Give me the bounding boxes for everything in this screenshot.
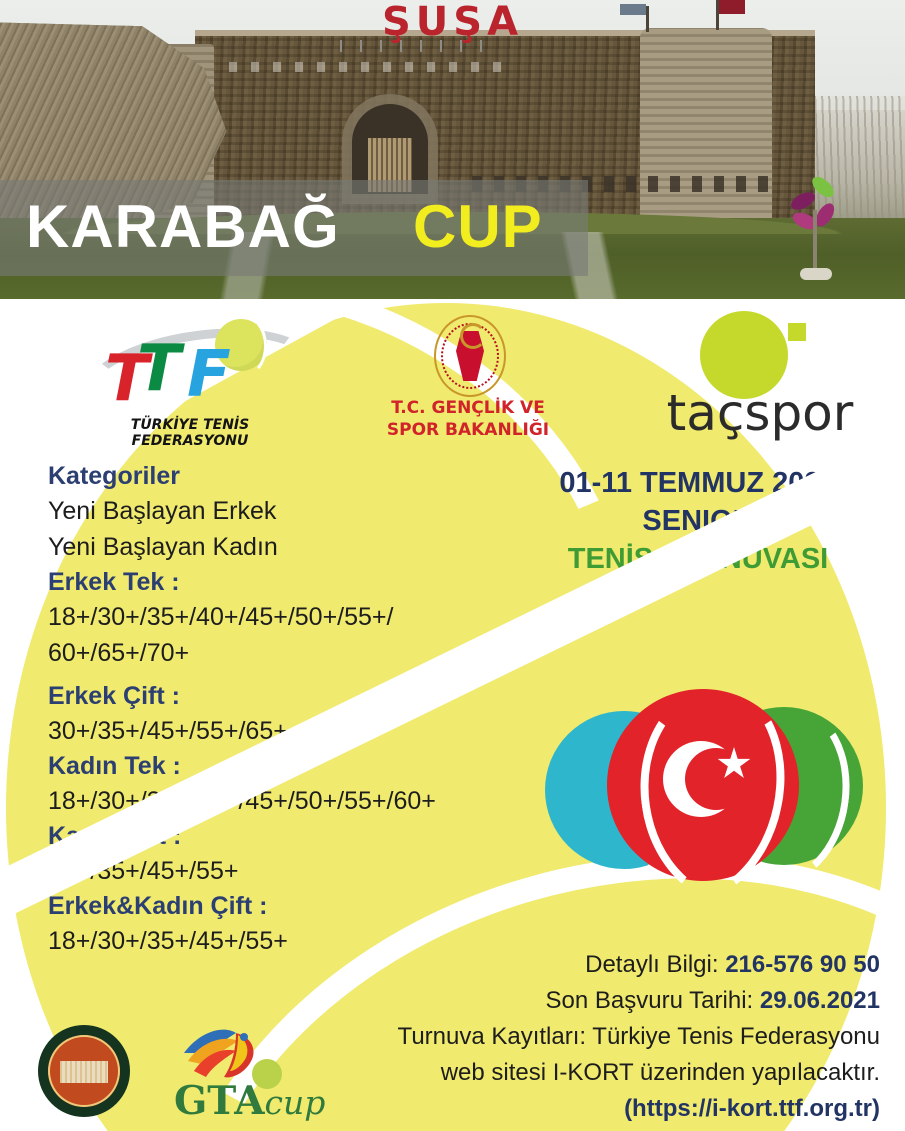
contact-block: Detaylı Bilgi: 216-576 90 50 Son Başvuru… bbox=[300, 947, 880, 1127]
ministry-seal-icon bbox=[434, 315, 506, 397]
contact-deadline-label: Son Başvuru Tarihi: bbox=[546, 987, 754, 1014]
ttf-logo: T T F TÜRKİYE TENİS FEDERASYONU bbox=[75, 317, 305, 447]
wall-merlons bbox=[215, 62, 515, 72]
tacspor-wordmark: taçspor bbox=[640, 385, 880, 441]
tournament-poster: ŞUŞA KARABAĞ CUP T T F TÜRKİYE TENİS FED… bbox=[0, 0, 905, 1131]
contact-phone-value: 216-576 90 50 bbox=[725, 951, 880, 978]
registration-url[interactable]: (https://i-kort.ttf.org.tr) bbox=[300, 1091, 880, 1127]
tennis-ball-red-turkish-flag-icon bbox=[607, 689, 799, 881]
crescent-icon bbox=[663, 741, 739, 817]
pinwheel-sculpture bbox=[786, 170, 846, 280]
poster-title-accent: CUP bbox=[413, 192, 543, 262]
tennis-balls-artwork bbox=[545, 689, 885, 899]
bottom-logo-row: GTAcup bbox=[18, 1015, 348, 1131]
susa-hillside-sign: ŞUŞA bbox=[0, 2, 905, 42]
sponsor-logo-row: T T F TÜRKİYE TENİS FEDERASYONU T.C. GEN… bbox=[0, 309, 905, 449]
ministry-line2: SPOR BAKANLIĞI bbox=[368, 419, 568, 441]
tacspor-logo: taçspor bbox=[640, 311, 880, 451]
pinwheel-pole bbox=[813, 210, 817, 272]
category-label-karisik-cift: Erkek&Kadın Çift : bbox=[48, 889, 518, 923]
ttf-letter-f: F bbox=[187, 343, 231, 407]
ttf-letter-t2: T bbox=[137, 337, 181, 401]
category-label-erkek-tek: Erkek Tek : bbox=[48, 565, 518, 599]
contact-deadline-line: Son Başvuru Tarihi: 29.06.2021 bbox=[300, 983, 880, 1019]
contact-phone-line: Detaylı Bilgi: 216-576 90 50 bbox=[300, 947, 880, 983]
ministry-caption: T.C. GENÇLİK VE SPOR BAKANLIĞI bbox=[368, 397, 568, 441]
categories-heading: Kategoriler bbox=[48, 459, 518, 493]
category-open-2: Yeni Başlayan Kadın bbox=[48, 529, 518, 565]
ministry-line1: T.C. GENÇLİK VE bbox=[368, 397, 568, 419]
category-values-erkek-tek-1: 18+/30+/35+/40+/45+/50+/55+/ bbox=[48, 599, 518, 635]
category-open-1: Yeni Başlayan Erkek bbox=[48, 493, 518, 529]
club-emblem-icon bbox=[48, 1035, 120, 1107]
header-photo: ŞUŞA KARABAĞ CUP bbox=[0, 0, 905, 299]
ttf-caption: TÜRKİYE TENİS FEDERASYONU bbox=[75, 417, 305, 449]
ministry-logo: T.C. GENÇLİK VE SPOR BAKANLIĞI bbox=[368, 315, 568, 455]
tennis-net-icon bbox=[60, 1061, 108, 1083]
pinwheel-base bbox=[800, 268, 832, 280]
contact-phone-label: Detaylı Bilgi: bbox=[585, 951, 718, 978]
categories-block: Kategoriler Yeni Başlayan Erkek Yeni Baş… bbox=[48, 459, 518, 959]
poster-body: T T F TÜRKİYE TENİS FEDERASYONU T.C. GEN… bbox=[0, 299, 905, 1131]
tacspor-t-notch bbox=[788, 323, 806, 341]
tacspor-t-foot bbox=[788, 365, 824, 381]
atasehir-tennis-club-logo bbox=[38, 1025, 130, 1117]
registration-line-2: web sitesi I-KORT üzerinden yapılacaktır… bbox=[300, 1055, 880, 1091]
registration-line-1: Turnuva Kayıtları: Türkiye Tenis Federas… bbox=[300, 1019, 880, 1055]
contact-deadline-value: 29.06.2021 bbox=[760, 987, 880, 1014]
ministry-crescent-icon bbox=[460, 323, 486, 349]
gta-main: GTA bbox=[174, 1078, 264, 1124]
poster-title: KARABAĞ bbox=[26, 192, 340, 262]
